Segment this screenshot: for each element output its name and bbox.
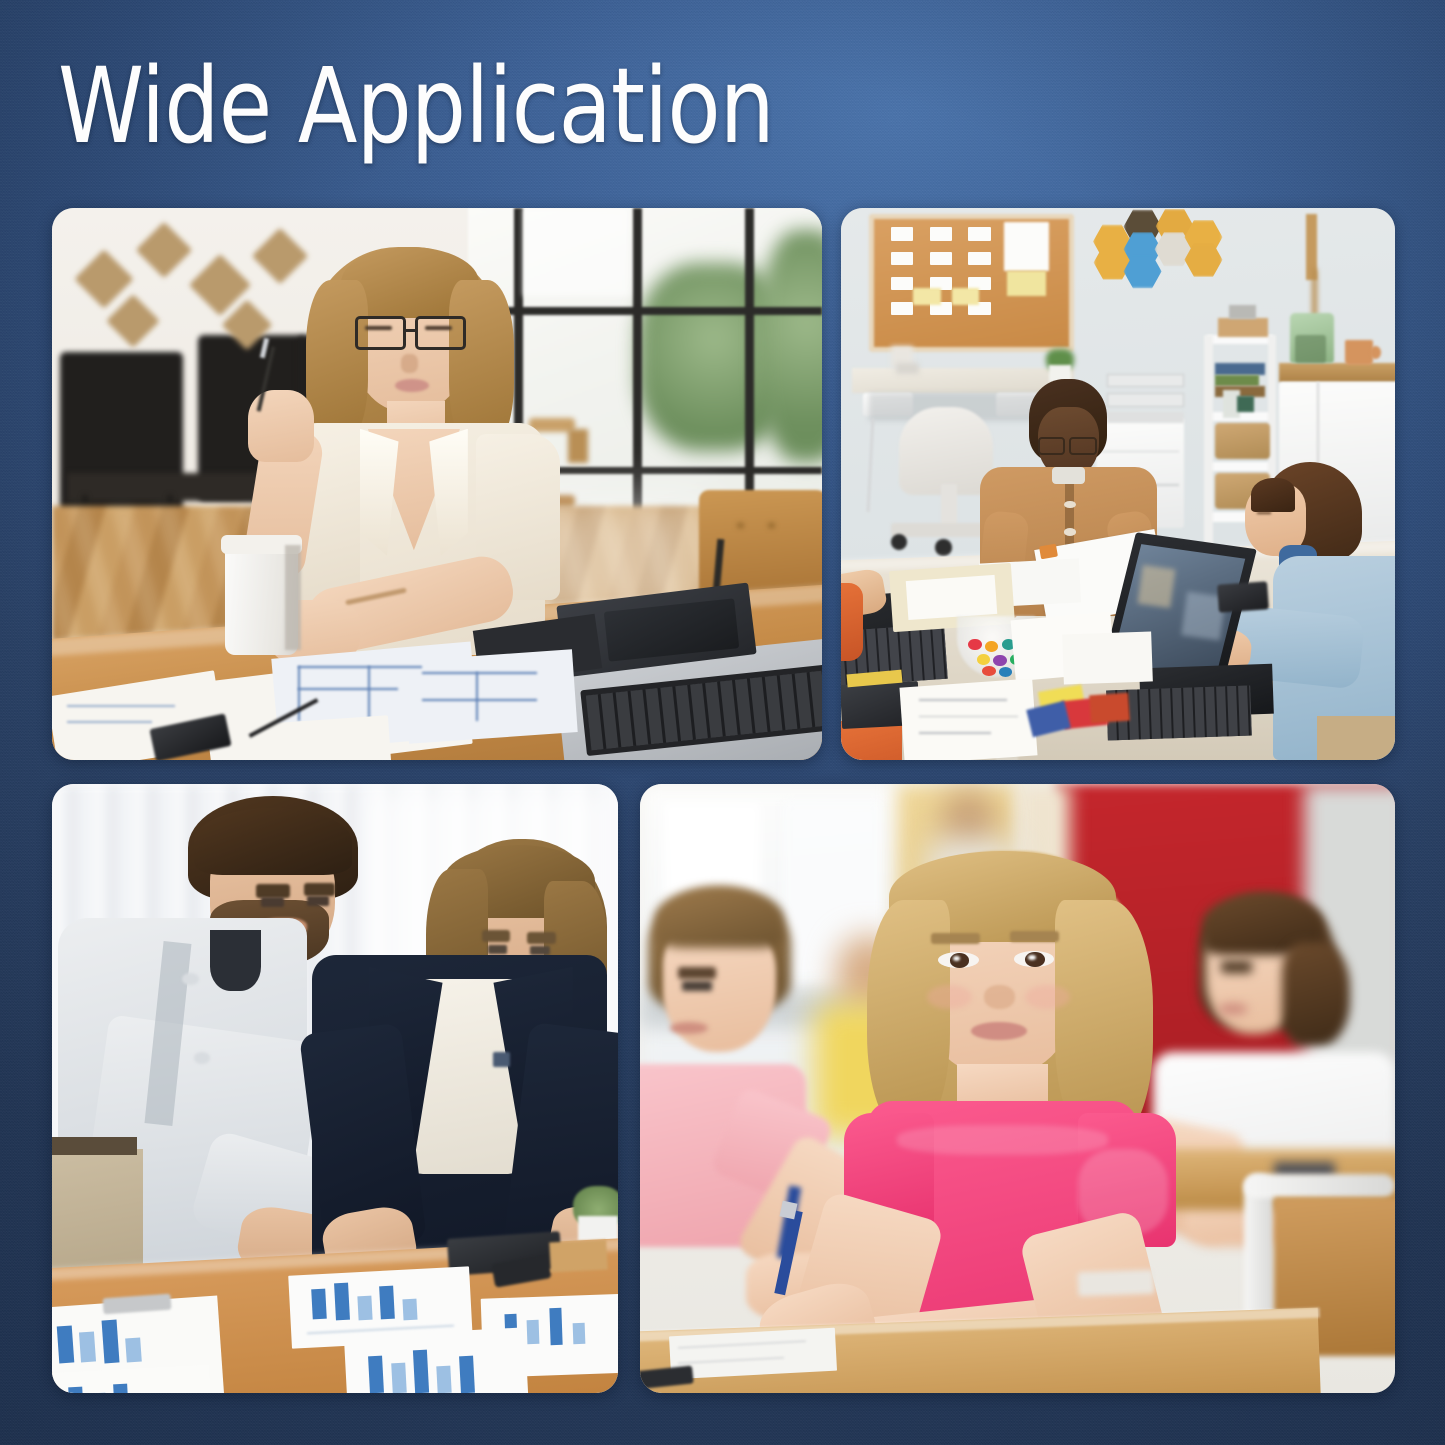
application-card-bank[interactable]: Bank: [52, 784, 618, 1393]
page-title: Wide Application: [58, 52, 774, 161]
application-card-office[interactable]: Office: [841, 208, 1395, 760]
office-scene-image: [841, 208, 1395, 760]
school-scene-image: [640, 784, 1395, 1393]
application-card-school[interactable]: School: [640, 784, 1395, 1393]
application-card-home[interactable]: Home: [52, 208, 822, 760]
bank-scene-image: [52, 784, 618, 1393]
home-scene-image: [52, 208, 822, 760]
